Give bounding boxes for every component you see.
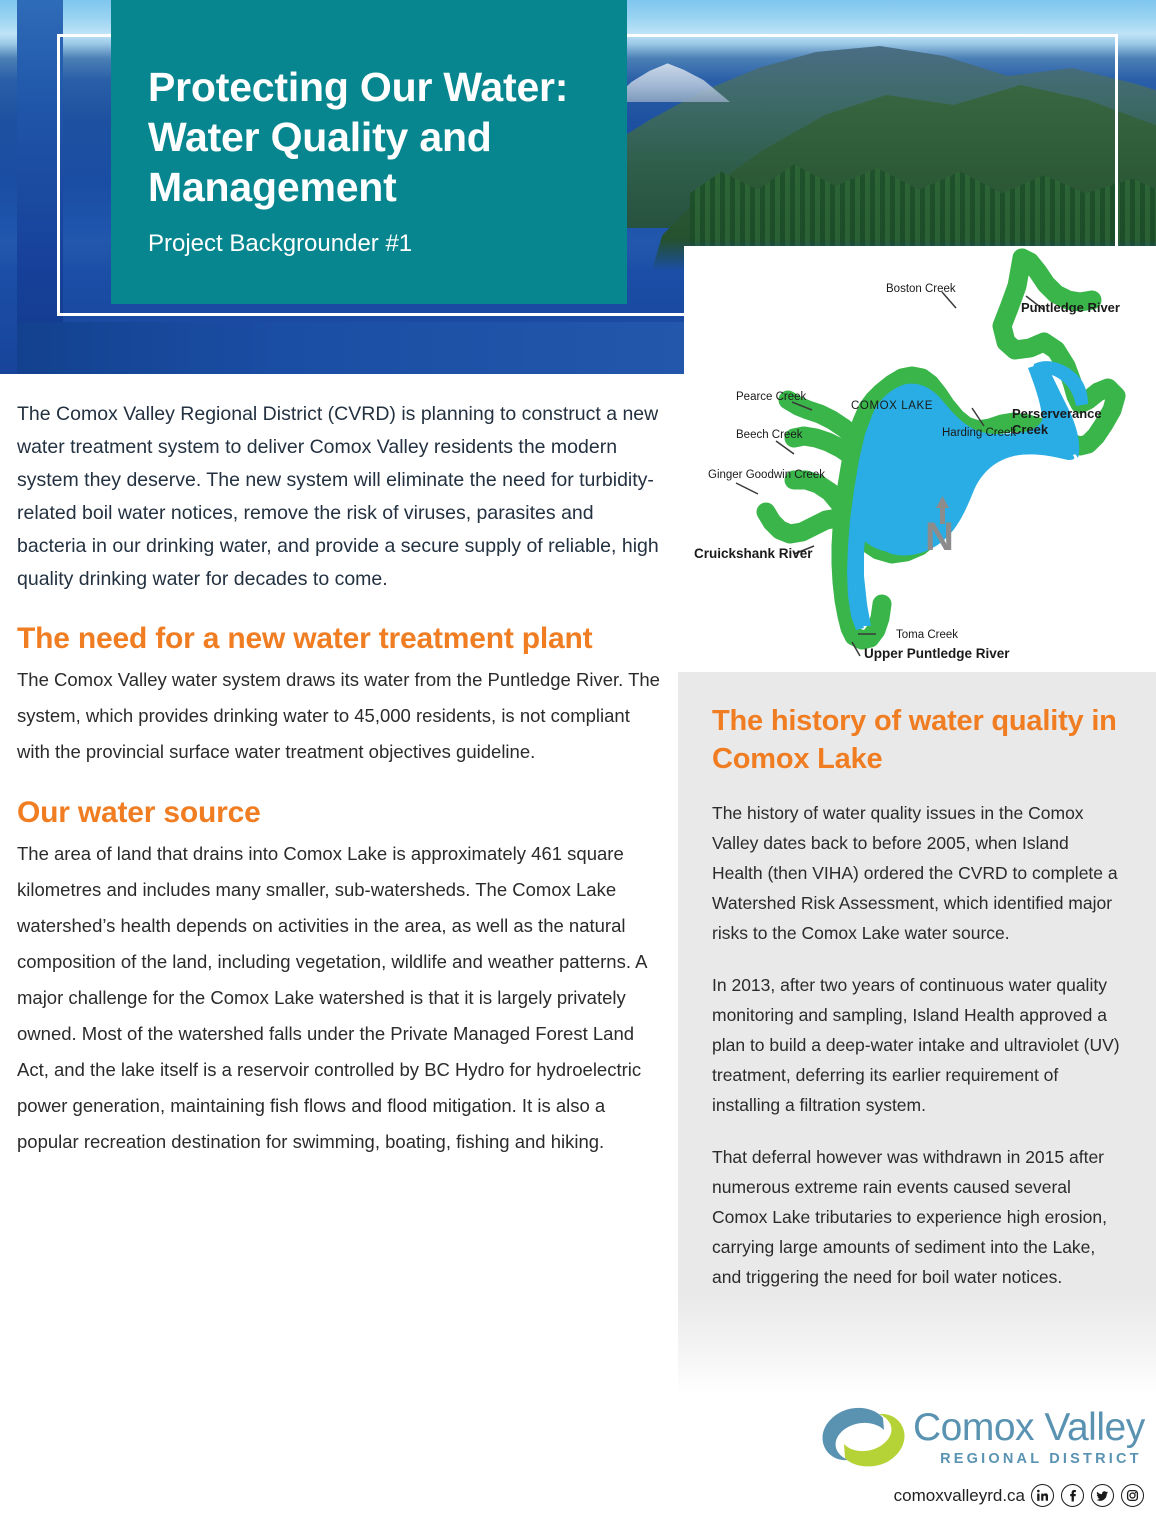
- map-label-puntledge-river: Puntledge River: [1021, 300, 1120, 315]
- instagram-icon[interactable]: [1121, 1484, 1144, 1507]
- social-links: [1031, 1484, 1144, 1507]
- history-sidebar-panel: The history of water quality in Comox La…: [678, 672, 1156, 1394]
- comox-lake-watershed-map: COMOX LAKE Boston Creek Puntledge River …: [684, 246, 1156, 670]
- backgrounder-page: Protecting Our Water: Water Quality and …: [0, 0, 1156, 1522]
- section-heading-need-for-plant: The need for a new water treatment plant: [17, 620, 662, 658]
- footer: Comox Valley REGIONAL DISTRICT comoxvall…: [0, 1398, 1156, 1522]
- facebook-icon[interactable]: [1061, 1484, 1084, 1507]
- page-title: Protecting Our Water: Water Quality and …: [148, 62, 618, 212]
- map-label-comox-lake: COMOX LAKE: [851, 400, 933, 412]
- leader-ginger-goodwin: [736, 483, 758, 494]
- intro-paragraph: The Comox Valley Regional District (CVRD…: [17, 398, 662, 596]
- sidebar-paragraph-2: In 2013, after two years of continuous w…: [712, 970, 1124, 1120]
- map-label-upper-puntledge-river: Upper Puntledge River: [864, 646, 1010, 661]
- map-label-beech-creek: Beech Creek: [736, 429, 803, 441]
- map-graphic: COMOX LAKE Boston Creek Puntledge River …: [684, 246, 1156, 670]
- map-label-perserverance-creek: Perserverance: [1012, 406, 1102, 421]
- map-label-boston-creek: Boston Creek: [886, 283, 956, 295]
- map-label-harding-creek: Harding Creek: [942, 427, 1016, 439]
- svg-text:N: N: [925, 515, 954, 559]
- section-body-water-source: The area of land that drains into Comox …: [17, 836, 662, 1160]
- history-sidebar-content: The history of water quality in Comox La…: [712, 702, 1124, 1314]
- sidebar-heading: The history of water quality in Comox La…: [712, 702, 1124, 778]
- map-label-ginger-goodwin-creek: Ginger Goodwin Creek: [708, 469, 825, 481]
- hero-navy-band: [17, 322, 684, 374]
- footer-bar: comoxvalleyrd.ca: [0, 1484, 1156, 1514]
- linkedin-icon[interactable]: [1031, 1484, 1054, 1507]
- website-url[interactable]: comoxvalleyrd.ca: [894, 1484, 1025, 1508]
- cvrd-logo-text: Comox Valley REGIONAL DISTRICT: [913, 1406, 1145, 1468]
- map-label-pearce-creek: Pearce Creek: [736, 391, 807, 403]
- twitter-icon[interactable]: [1091, 1484, 1114, 1507]
- cvrd-swoosh-icon: [815, 1406, 911, 1468]
- map-label-toma-creek: Toma Creek: [896, 629, 958, 641]
- sidebar-paragraph-1: The history of water quality issues in t…: [712, 798, 1124, 948]
- map-label-perserverance-creek-2: Creek: [1012, 422, 1049, 437]
- section-heading-water-source: Our water source: [17, 794, 662, 832]
- main-content-column: The Comox Valley Regional District (CVRD…: [17, 398, 662, 1160]
- section-body-need-for-plant: The Comox Valley water system draws its …: [17, 662, 662, 770]
- page-subtitle: Project Backgrounder #1: [148, 229, 627, 259]
- cvrd-logo[interactable]: Comox Valley REGIONAL DISTRICT: [815, 1406, 1145, 1468]
- map-label-cruickshank-river: Cruickshank River: [694, 546, 813, 561]
- sidebar-paragraph-3: That deferral however was withdrawn in 2…: [712, 1142, 1124, 1292]
- title-card: Protecting Our Water: Water Quality and …: [111, 0, 627, 304]
- logo-title: Comox Valley: [913, 1406, 1145, 1450]
- logo-subtitle: REGIONAL DISTRICT: [913, 1451, 1145, 1468]
